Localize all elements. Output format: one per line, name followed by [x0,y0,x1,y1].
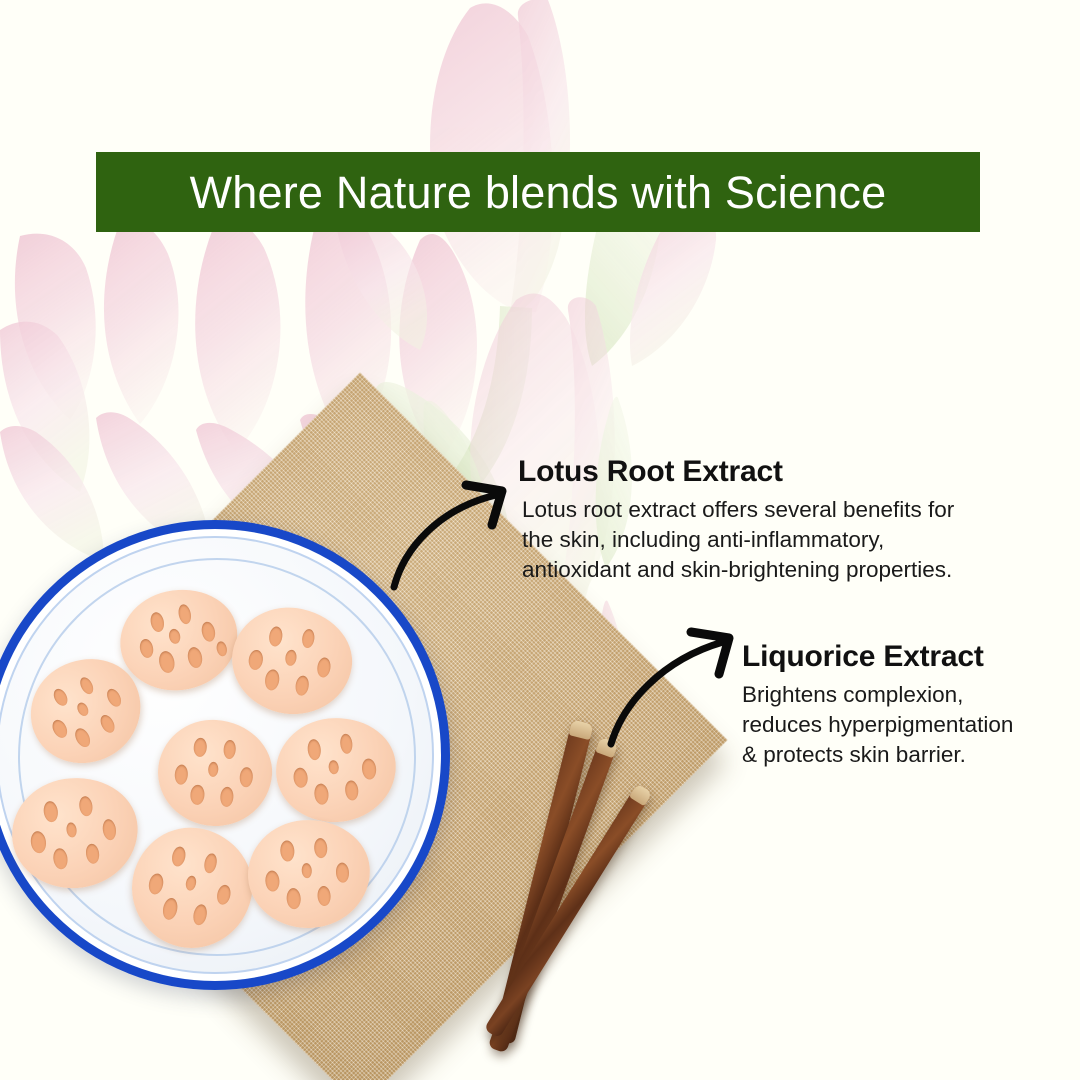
poster-canvas: Where Nature blends with Science [0,0,1080,1080]
callout-body-line: Brightens complexion, [742,680,1013,710]
callout-body-line: reduces hyperpigmentation [742,710,1013,740]
headline-banner: Where Nature blends with Science [96,152,980,232]
callout-body-line: & protects skin barrier. [742,740,1013,770]
page-title: Where Nature blends with Science [190,170,887,215]
callout-body-line: the skin, including anti-inflammatory, [522,525,954,555]
callout-body-line: Lotus root extract offers several benefi… [522,495,954,525]
pointer-arrow-lotus-root [380,475,520,600]
pointer-arrow-liquorice [595,620,745,755]
callout-heading: Lotus Root Extract [518,455,954,488]
callout-heading: Liquorice Extract [742,640,1013,673]
callout-body-line: antioxidant and skin-brightening propert… [522,555,954,585]
callout-lotus-root: Lotus Root Extract Lotus root extract of… [518,455,954,585]
callout-liquorice: Liquorice Extract Brightens complexion, … [742,640,1013,770]
